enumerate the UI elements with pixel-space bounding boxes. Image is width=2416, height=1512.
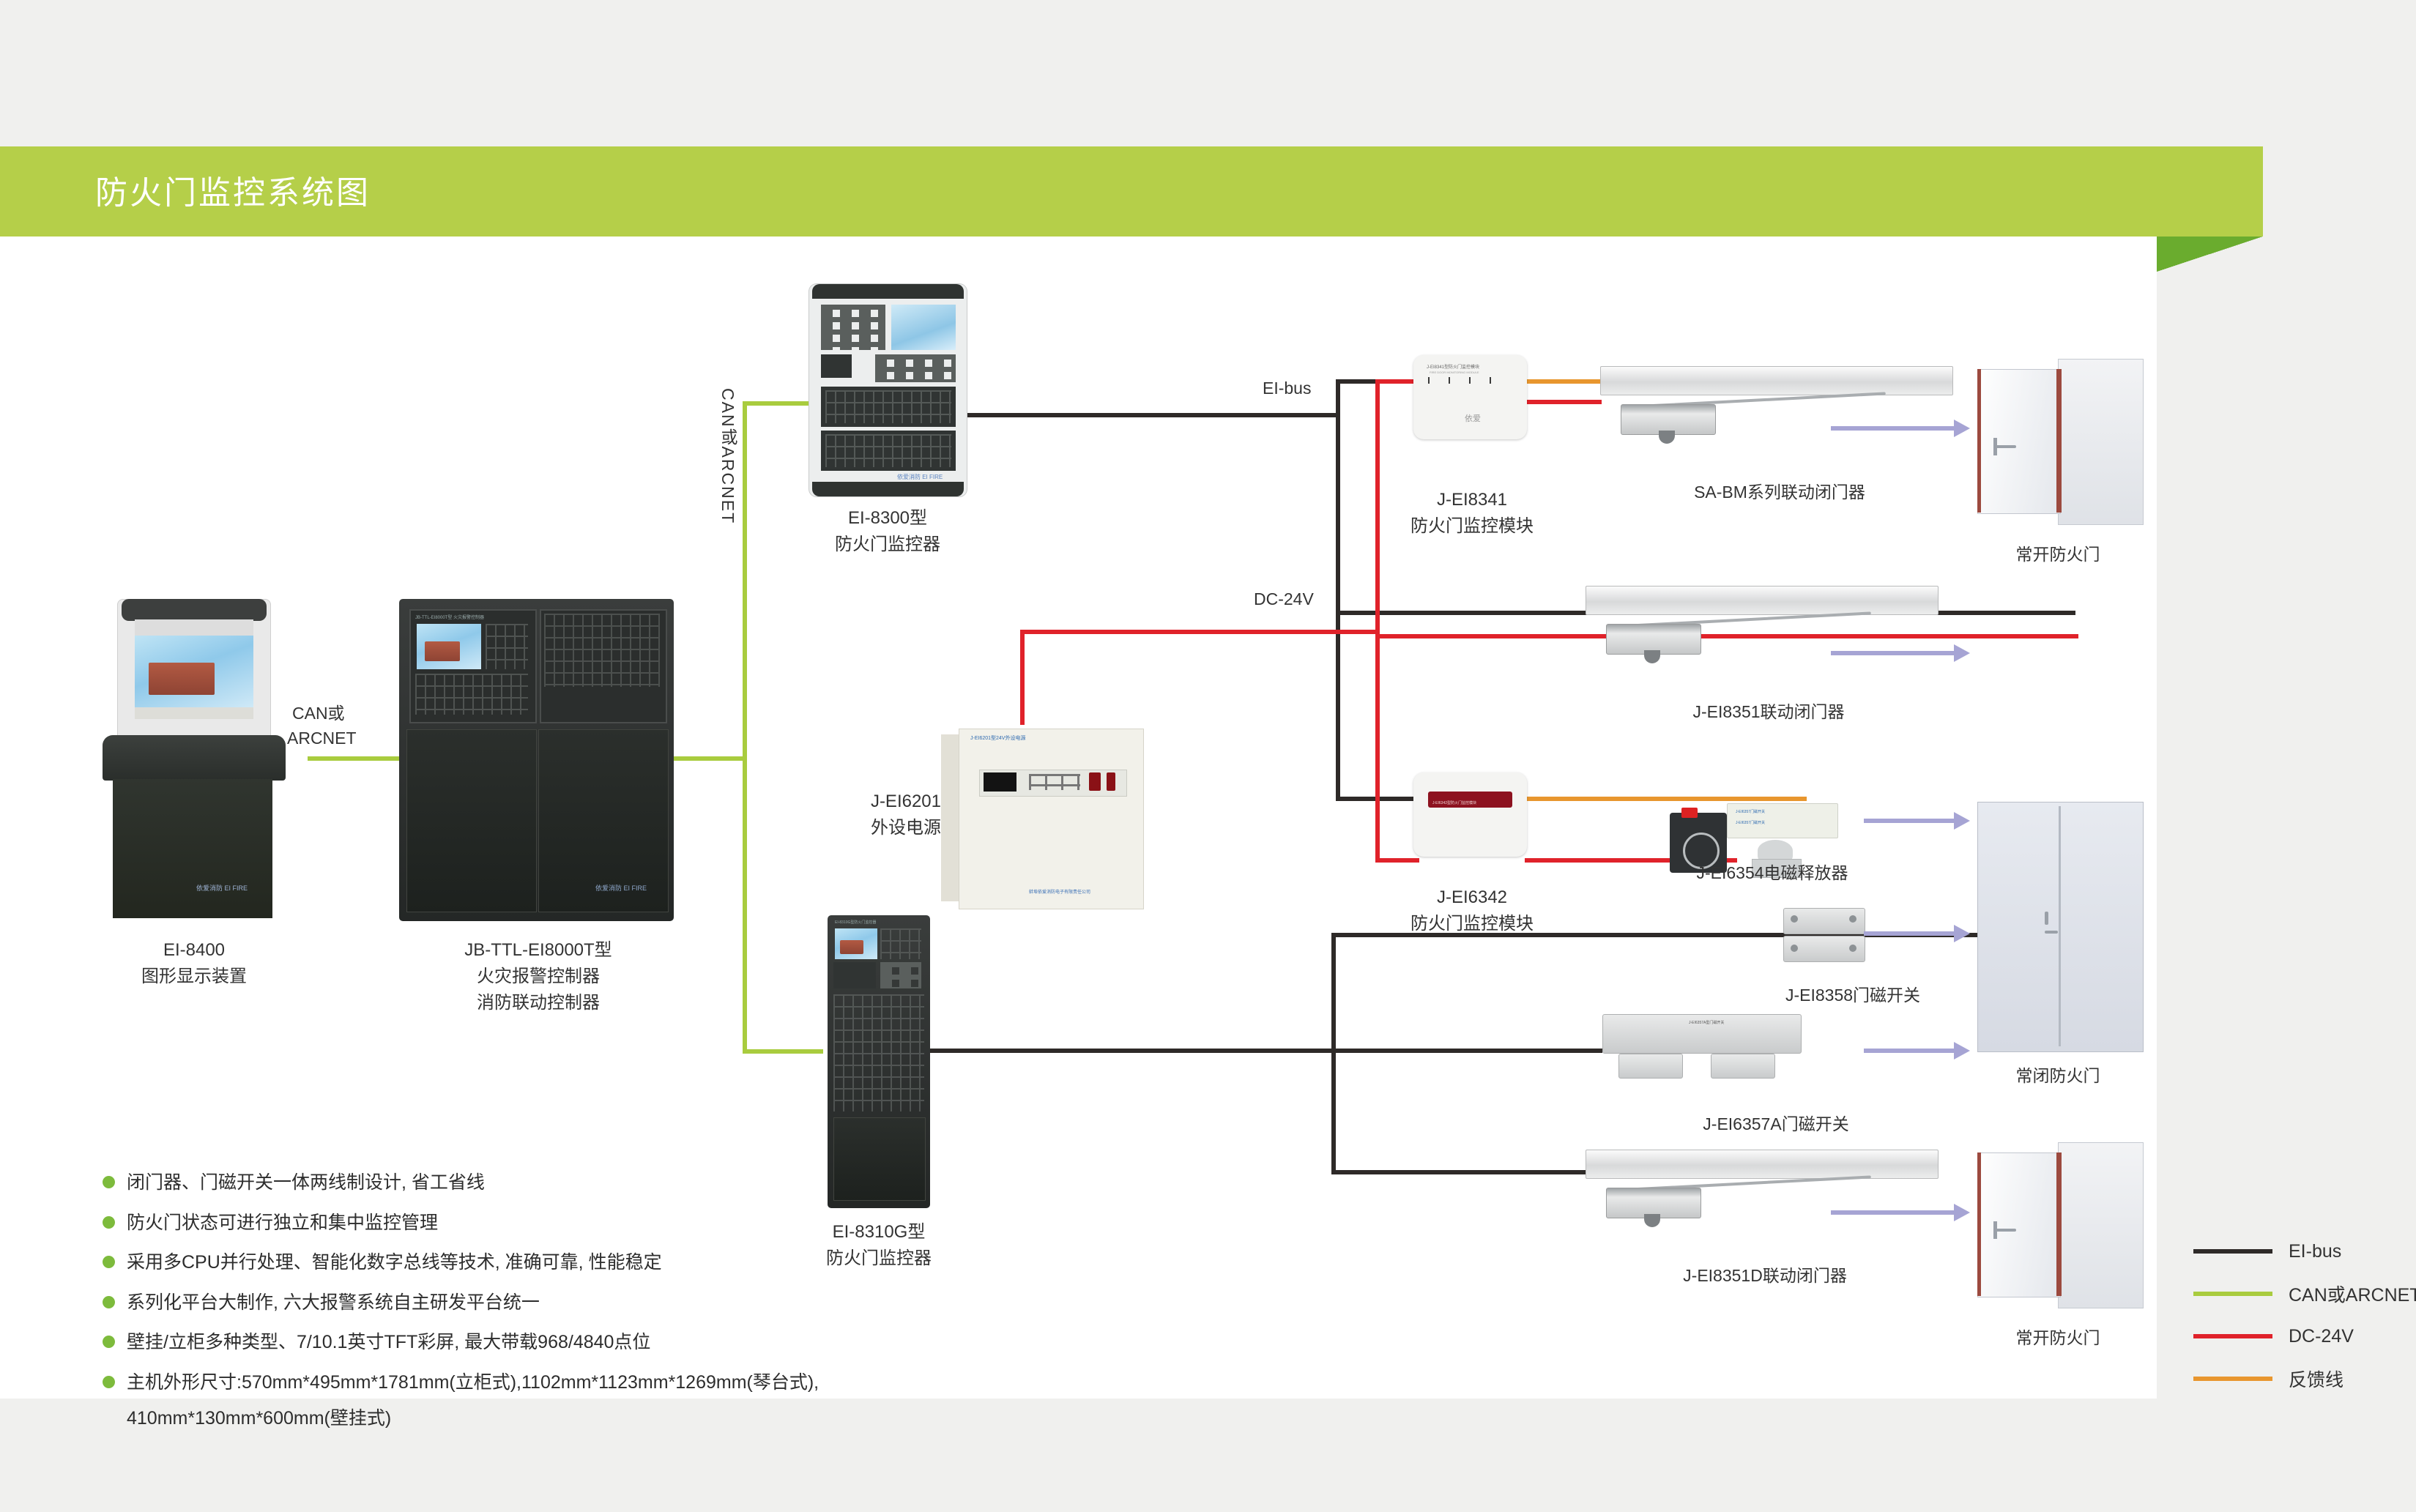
list-item-label: 系列化平台大制作, 六大报警系统自主研发平台统一 xyxy=(127,1290,540,1317)
wire-eibus-branch-6357a xyxy=(1331,1049,1602,1053)
legend-swatch-line xyxy=(2193,1292,2272,1296)
caption-line: EI-8400 xyxy=(48,937,341,964)
bullet-dot-icon xyxy=(103,1176,115,1188)
list-item-label-cont: 410mm*130mm*600mm(壁挂式) xyxy=(127,1406,819,1432)
bullet-dot-icon xyxy=(103,1256,115,1268)
legend-item-can-arcnet: CAN或ARCNET xyxy=(2193,1273,2416,1315)
arrow-to-door-middle-1 xyxy=(1864,819,1955,823)
list-item-label: 主机外形尺寸:570mm*495mm*1781mm(立柜式),1102mm*11… xyxy=(127,1370,819,1396)
list-item: 主机外形尺寸:570mm*495mm*1781mm(立柜式),1102mm*11… xyxy=(103,1370,1018,1432)
caption-door-bottom: 常开防火门 xyxy=(1948,1325,2168,1351)
caption-ei-8300: EI-8300型 防火门监控器 xyxy=(741,505,1034,558)
device-j-ei6201[interactable]: J-EI6201型24V外设电源 蚌埠依爱消防电子有限责任公司 xyxy=(941,729,1142,908)
caption-line: J-EI6201 xyxy=(795,789,941,815)
label-dc-24v: DC-24V xyxy=(1254,589,1314,609)
device-jb-ttl-ei8000t[interactable]: JB-TTL-EI8000T型 火灾报警控制器 依爱消防 EI FIRE xyxy=(399,599,674,921)
label-can-arcnet-1: CAN或 xyxy=(292,699,345,724)
wire-dc24-to-8341 xyxy=(1375,379,1419,384)
legend-label: CAN或ARCNET xyxy=(2289,1281,2416,1307)
caption-line: 图形显示装置 xyxy=(48,964,341,990)
psu-footer-text: 蚌埠依爱消防电子有限责任公司 xyxy=(1029,888,1090,895)
device-ei-8300[interactable]: 依爱消防 EI FIRE xyxy=(809,284,967,496)
legend-swatch-line xyxy=(2193,1334,2272,1338)
arrow-to-door-middle-2 xyxy=(1864,931,1955,936)
caption-j-ei6201: J-EI6201 外设电源 xyxy=(795,789,941,841)
caption-line: 防火门监控器 xyxy=(741,532,1034,558)
caption-door-top: 常开防火门 xyxy=(1948,542,2168,567)
device-ei-8310g[interactable]: EI-8310G型防火门监控器 xyxy=(828,915,930,1208)
caption-door-middle: 常闭防火门 xyxy=(1948,1063,2168,1089)
list-item-label: 防火门状态可进行独立和集中监控管理 xyxy=(127,1210,438,1237)
bullet-dot-icon xyxy=(103,1336,115,1348)
wire-dc24-psu-riser xyxy=(1020,630,1025,725)
list-item: 防火门状态可进行独立和集中监控管理 xyxy=(103,1210,1018,1237)
arrow-to-door-bottom xyxy=(1831,1210,1955,1215)
wire-dc24-to-6342 xyxy=(1375,858,1419,863)
module-face-text: J-EI8341型防火门监控模块 xyxy=(1427,363,1479,370)
bullet-dot-icon xyxy=(103,1216,115,1229)
wire-dc24-trunk xyxy=(1020,630,1379,634)
door-top xyxy=(1977,359,2142,524)
caption-j-ei6342: J-EI6342 防火门监控模块 xyxy=(1362,885,1582,937)
feature-list: 闭门器、门磁开关一体两线制设计, 省工省线 防火门状态可进行独立和集中监控管理 … xyxy=(103,1170,1018,1446)
list-item-label: 壁挂/立柜多种类型、7/10.1英寸TFT彩屏, 最大带载968/4840点位 xyxy=(127,1330,650,1356)
legend-item-ei-bus: EI-bus xyxy=(2193,1230,2416,1273)
caption-j-ei6354: J-EI6354电磁释放器 xyxy=(1582,860,1963,886)
wire-dc24-vertical xyxy=(1375,379,1380,863)
legend: EI-bus CAN或ARCNET DC-24V 反馈线 xyxy=(2193,1230,2416,1400)
legend-label: EI-bus xyxy=(2289,1241,2341,1262)
magnet-label-2: J-EI6357门磁开关 xyxy=(1736,820,1765,825)
wire-can-arcnet-to-ei8300 xyxy=(743,401,816,406)
list-item: 系列化平台大制作, 六大报警系统自主研发平台统一 xyxy=(103,1290,1018,1317)
list-item-label: 闭门器、门磁开关一体两线制设计, 省工省线 xyxy=(127,1170,485,1196)
arrow-to-door-top xyxy=(1831,426,1955,431)
device-j-ei8341[interactable]: J-EI8341型防火门监控模块 FIRE DOOR MONITORING MO… xyxy=(1413,355,1527,439)
magnet-label-1: J-EI6357门磁开关 xyxy=(1736,809,1765,814)
wire-eibus-branch-8351d xyxy=(1331,1170,1602,1174)
caption-line: 消防联动控制器 xyxy=(388,990,688,1016)
psu-brand-text: J-EI6201型24V外设电源 xyxy=(970,734,1109,742)
label-can-arcnet-2: ARCNET xyxy=(287,729,357,748)
caption-j-ei6357a: J-EI6357A门磁开关 xyxy=(1593,1111,1959,1137)
caption-line: JB-TTL-EI8000T型 xyxy=(388,937,688,964)
arrow-to-door-top-2 xyxy=(1831,651,1955,655)
device-j-ei8358[interactable] xyxy=(1783,908,1864,961)
caption-line: 火灾报警控制器 xyxy=(388,964,688,990)
caption-j-ei8358: J-EI8358门磁开关 xyxy=(1684,983,2021,1008)
caption-ei-8400: EI-8400 图形显示装置 xyxy=(48,937,341,990)
legend-label: DC-24V xyxy=(2289,1326,2354,1347)
caption-line: J-EI6342 xyxy=(1362,885,1582,911)
door-middle xyxy=(1977,802,2142,1051)
wire-dc24-8341-out xyxy=(1525,400,1602,404)
wire-eibus-ei8310g xyxy=(930,1049,1337,1053)
door-bottom xyxy=(1977,1142,2142,1307)
device-sa-bm-closer[interactable] xyxy=(1600,366,1952,443)
device-j-ei8351d-closer[interactable] xyxy=(1586,1150,1937,1226)
legend-label: 反馈线 xyxy=(2289,1366,2343,1392)
arrow-to-door-middle-3 xyxy=(1864,1049,1955,1053)
wire-can-arcnet-vertical xyxy=(743,401,747,1054)
module-face-text: J-EI6342型防火门监控模块 xyxy=(1432,800,1476,805)
caption-j-ei8351-closer: J-EI8351联动闭门器 xyxy=(1527,699,2010,725)
label-can-arcnet-vertical: CAN或ARCNET xyxy=(715,388,740,524)
header-bar-extension xyxy=(2157,146,2263,237)
header-ribbon-fold xyxy=(2157,237,2263,272)
bullet-dot-icon xyxy=(103,1376,115,1388)
diagram-page: 防火门监控系统图 EI-bus DC-24V CAN或ARCNET CAN或 A… xyxy=(0,0,2416,1512)
list-item: 采用多CPU并行处理、智能化数字总线等技术, 准确可靠, 性能稳定 xyxy=(103,1250,1018,1276)
legend-item-dc-24v: DC-24V xyxy=(2193,1315,2416,1358)
caption-line: EI-8300型 xyxy=(741,505,1034,532)
wire-can-arcnet-to-ei8310g xyxy=(743,1049,823,1054)
label-ei-bus: EI-bus xyxy=(1263,379,1311,398)
caption-line: 防火门监控模块 xyxy=(1366,513,1578,540)
bullet-dot-icon xyxy=(103,1296,115,1308)
device-ei-8400[interactable]: 依爱消防 EI FIRE xyxy=(103,599,286,921)
legend-swatch-line xyxy=(2193,1249,2272,1254)
list-item: 闭门器、门磁开关一体两线制设计, 省工省线 xyxy=(103,1170,1018,1196)
legend-swatch-line xyxy=(2193,1377,2272,1381)
list-item-label: 采用多CPU并行处理、智能化数字总线等技术, 准确可靠, 性能稳定 xyxy=(127,1250,662,1276)
device-j-ei6357a[interactable]: J-EI6357A型门磁开关 xyxy=(1602,1014,1800,1091)
caption-sa-bm-closer: SA-BM系列联动闭门器 xyxy=(1538,480,2021,505)
caption-line: 防火门监控模块 xyxy=(1362,911,1582,937)
caption-j-ei8351d-closer: J-EI8351D联动闭门器 xyxy=(1523,1263,2007,1289)
wire-eibus-riser-down xyxy=(1336,413,1340,801)
page-title: 防火门监控系统图 xyxy=(95,166,371,213)
module-face-text-en: FIRE DOOR MONITORING MODULE xyxy=(1430,370,1479,374)
wire-feedback-8341 xyxy=(1525,379,1602,384)
caption-jb-ttl-ei8000t: JB-TTL-EI8000T型 火灾报警控制器 消防联动控制器 xyxy=(388,937,688,1016)
list-item: 壁挂/立柜多种类型、7/10.1英寸TFT彩屏, 最大带载968/4840点位 xyxy=(103,1330,1018,1356)
wire-eibus-ei8300 xyxy=(967,413,1340,417)
caption-line: 外设电源 xyxy=(795,815,941,841)
wire-eibus-riser-top xyxy=(1336,379,1340,417)
device-j-ei6342[interactable]: J-EI6342型防火门监控模块 xyxy=(1413,772,1527,857)
legend-item-feedback: 反馈线 xyxy=(2193,1358,2416,1400)
wire-eibus-8310g-riser xyxy=(1331,933,1336,1174)
